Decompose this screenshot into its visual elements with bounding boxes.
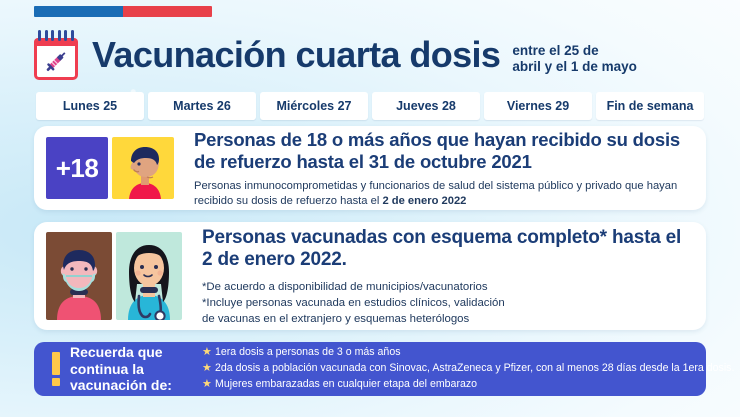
reminder-item-1-text: 1era dosis a personas de 3 o más años bbox=[215, 346, 401, 359]
exclamation-stroke-icon bbox=[52, 352, 60, 375]
reminder-label-line-2: continua la bbox=[70, 361, 196, 378]
chile-flag-bar bbox=[34, 6, 212, 17]
list-item: ★ 1era dosis a personas de 3 o más años bbox=[202, 346, 734, 360]
exclamation-icon bbox=[50, 352, 61, 386]
card-18-plus-text: Personas de 18 o más años que hayan reci… bbox=[174, 126, 706, 210]
star-bullet-icon: ★ bbox=[202, 346, 215, 360]
list-item: ★ 2da dosis a población vacunada con Sin… bbox=[202, 362, 734, 376]
flag-red-segment bbox=[123, 6, 212, 17]
card-full-scheme-note-1: *De acuerdo a disponibilidad de municipi… bbox=[202, 279, 690, 295]
card-full-scheme-text: Personas vacunadas con esquema completo*… bbox=[182, 222, 706, 330]
age-badge-18-tile: +18 bbox=[46, 137, 108, 199]
nurse-illustration bbox=[116, 232, 182, 320]
tab-fin-de-semana[interactable]: Fin de semana bbox=[596, 92, 704, 120]
page-title: Vacunación cuarta dosis bbox=[92, 37, 500, 73]
reminder-list: ★ 1era dosis a personas de 3 o más años … bbox=[202, 346, 734, 391]
reminder-item-2-text: 2da dosis a población vacunada con Sinov… bbox=[215, 362, 734, 375]
exclamation-dot-icon bbox=[52, 378, 60, 386]
day-tabs: Lunes 25 Martes 26 Miércoles 27 Jueves 2… bbox=[36, 92, 704, 120]
reminder-label: Recuerda que continua la vacunación de: bbox=[70, 344, 196, 394]
header: Vacunación cuarta dosis entre el 25 de a… bbox=[32, 24, 730, 86]
reminder-item-3-text: Mujeres embarazadas en cualquier etapa d… bbox=[215, 378, 477, 391]
nurse-stethoscope-tile bbox=[116, 232, 182, 320]
card-18-plus-artwork: +18 bbox=[34, 126, 174, 210]
masked-person-tile bbox=[46, 232, 112, 320]
masked-person-illustration bbox=[46, 232, 112, 320]
card-full-scheme-headline: Personas vacunadas con esquema completo*… bbox=[202, 227, 690, 272]
card-full-scheme: Personas vacunadas con esquema completo*… bbox=[34, 222, 706, 330]
syringe-icon bbox=[41, 46, 71, 76]
card-18-plus-headline: Personas de 18 o más años que hayan reci… bbox=[194, 129, 690, 173]
reminder-bar: Recuerda que continua la vacunación de: … bbox=[34, 342, 706, 396]
list-item: ★ Mujeres embarazadas en cualquier etapa… bbox=[202, 378, 734, 392]
reminder-label-line-1: Recuerda que bbox=[70, 344, 196, 361]
person-yellow-tile bbox=[112, 137, 174, 199]
calendar-rings-icon bbox=[38, 30, 74, 42]
tab-viernes-29[interactable]: Viernes 29 bbox=[484, 92, 592, 120]
card-full-scheme-artwork bbox=[34, 222, 182, 330]
tab-miercoles-27[interactable]: Miércoles 27 bbox=[260, 92, 368, 120]
reminder-label-line-3: vacunación de: bbox=[70, 377, 196, 394]
flag-blue-segment bbox=[34, 6, 123, 17]
calendar-syringe-icon bbox=[32, 29, 82, 81]
card-18-plus-note: Personas inmunocomprometidas y funcionar… bbox=[194, 179, 690, 209]
tab-martes-26[interactable]: Martes 26 bbox=[148, 92, 256, 120]
card-18-plus-note-bold: 2 de enero 2022 bbox=[382, 195, 466, 207]
card-full-scheme-note-2: *Incluye personas vacunada en estudios c… bbox=[202, 295, 690, 311]
card-18-plus: +18 Personas de 18 o más años que hayan … bbox=[34, 126, 706, 210]
date-range-line-1: entre el 25 de bbox=[512, 43, 637, 59]
card-full-scheme-notes: *De acuerdo a disponibilidad de municipi… bbox=[202, 279, 690, 328]
tab-lunes-25[interactable]: Lunes 25 bbox=[36, 92, 144, 120]
star-bullet-icon: ★ bbox=[202, 378, 215, 392]
date-range: entre el 25 de abril y el 1 de mayo bbox=[512, 43, 637, 76]
star-bullet-icon: ★ bbox=[202, 362, 215, 376]
card-full-scheme-note-3: de vacunas en el extranjero y esquemas h… bbox=[202, 311, 690, 327]
date-range-line-2: abril y el 1 de mayo bbox=[512, 59, 637, 75]
infographic-page: Vacunación cuarta dosis entre el 25 de a… bbox=[0, 0, 740, 417]
person-profile-illustration bbox=[112, 137, 174, 199]
tab-jueves-28[interactable]: Jueves 28 bbox=[372, 92, 480, 120]
